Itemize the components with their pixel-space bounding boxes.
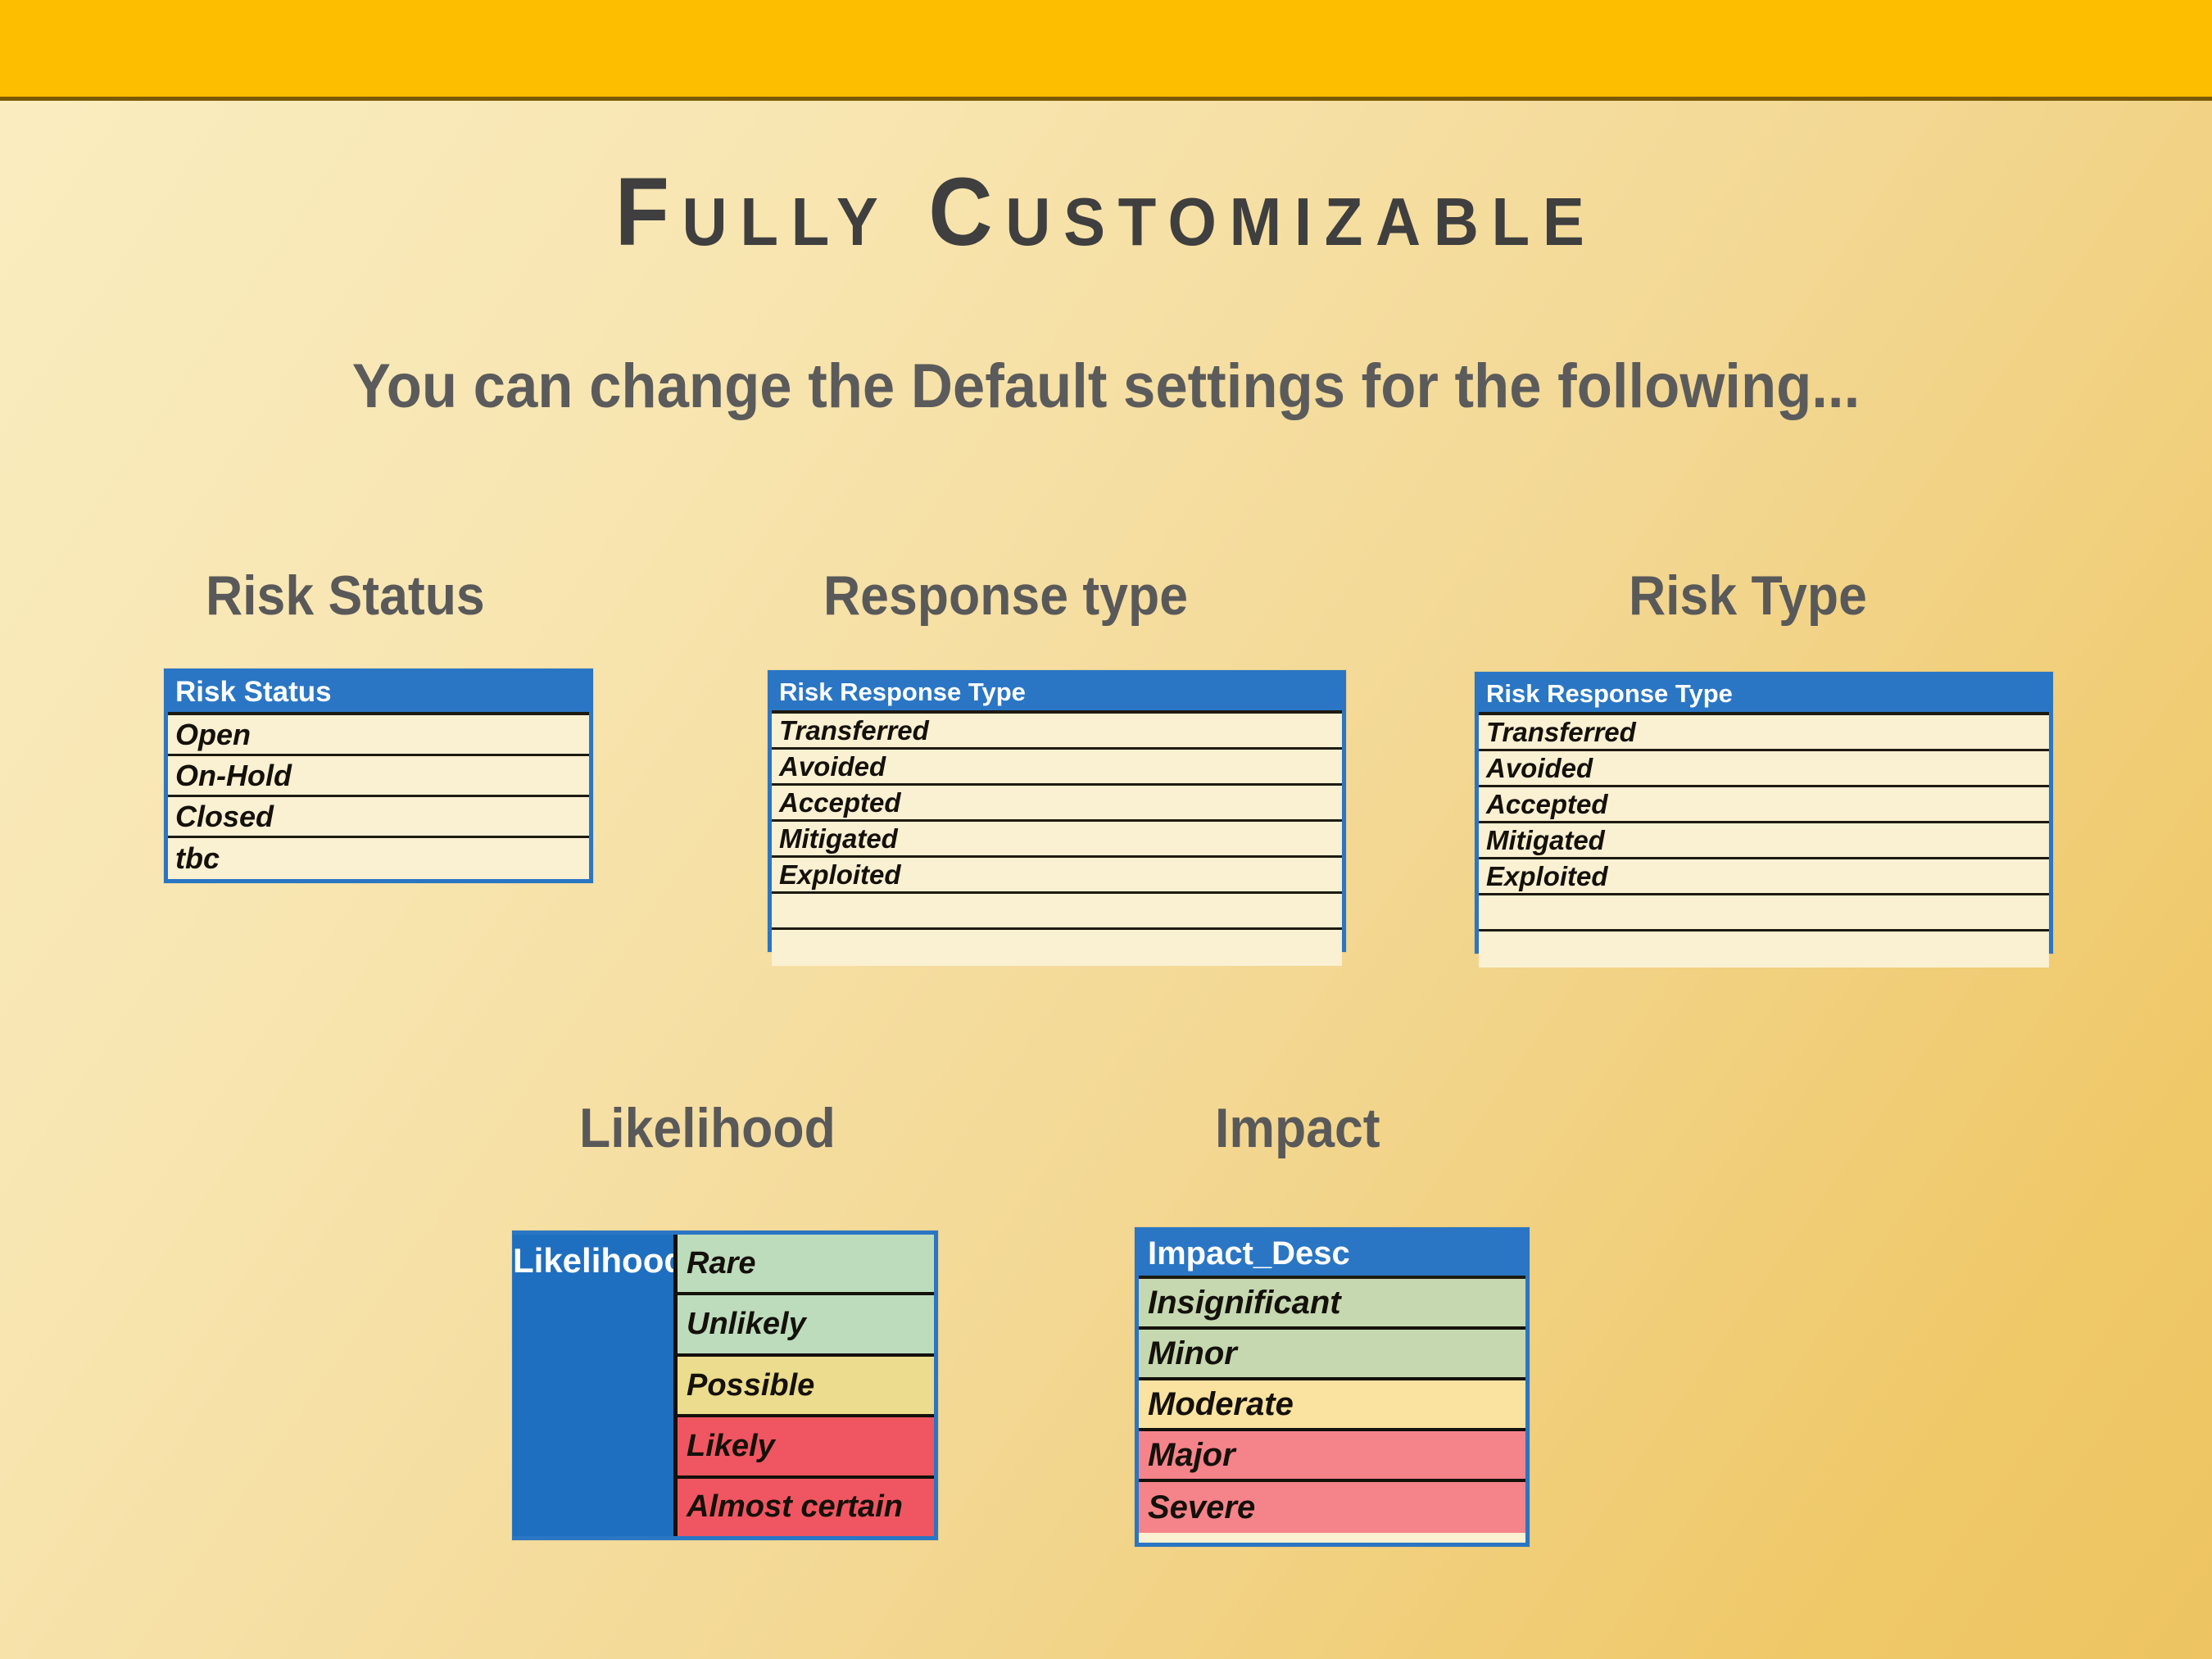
table-row: Closed xyxy=(168,797,589,838)
table-row: Possible xyxy=(678,1357,934,1417)
table-header-cell: Impact_Desc xyxy=(1139,1231,1525,1279)
table-row: Almost certain xyxy=(678,1479,934,1536)
table-header-cell: Risk Status xyxy=(168,673,589,715)
table-row: Mitigated xyxy=(1479,823,2049,859)
table-row: Avoided xyxy=(1479,751,2049,787)
table-risk-type: Risk Response Type TransferredAvoidedAcc… xyxy=(1475,672,2053,954)
table-row: Accepted xyxy=(1479,787,2049,823)
table-row xyxy=(1479,931,2049,968)
table-row: Minor xyxy=(1139,1330,1525,1380)
table-likelihood: Likelihood RareUnlikelyPossibleLikelyAlm… xyxy=(512,1231,938,1540)
table-body: OpenOn-HoldClosedtbc xyxy=(168,715,589,879)
table-header-cell: Likelihood xyxy=(513,1235,673,1536)
table-row: Accepted xyxy=(772,786,1342,822)
table-row: On-Hold xyxy=(168,756,589,797)
table-row: Unlikely xyxy=(678,1295,934,1356)
table-risk-status: Risk Status OpenOn-HoldClosedtbc xyxy=(164,669,593,883)
table-row: Severe xyxy=(1139,1482,1525,1533)
table-row: tbc xyxy=(168,838,589,879)
table-row xyxy=(772,930,1342,966)
table-response-type: Risk Response Type TransferredAvoidedAcc… xyxy=(768,670,1346,952)
table-header-cell: Risk Response Type xyxy=(1479,676,2049,715)
section-heading-impact: Impact xyxy=(1215,1096,1380,1160)
table-row xyxy=(1479,895,2049,931)
table-row: Insignificant xyxy=(1139,1279,1525,1330)
table-row: Transferred xyxy=(1479,715,2049,751)
table-row: Mitigated xyxy=(772,822,1342,858)
section-heading-likelihood: Likelihood xyxy=(579,1096,836,1160)
table-row xyxy=(772,894,1342,930)
top-accent-bar xyxy=(0,0,2212,101)
table-body: RareUnlikelyPossibleLikelyAlmost certain xyxy=(673,1235,934,1536)
table-header-cell: Risk Response Type xyxy=(772,674,1342,714)
page-subtitle: You can change the Default settings for … xyxy=(78,351,2135,422)
table-row: Major xyxy=(1139,1431,1525,1482)
section-heading-response-type: Response type xyxy=(823,564,1188,628)
table-impact: Impact_Desc InsignificantMinorModerateMa… xyxy=(1135,1227,1530,1547)
table-row: Rare xyxy=(678,1235,934,1295)
table-row: Likely xyxy=(678,1417,934,1478)
table-body: TransferredAvoidedAcceptedMitigatedExplo… xyxy=(1479,715,2049,968)
table-row: Open xyxy=(168,715,589,756)
table-body: InsignificantMinorModerateMajorSevere xyxy=(1139,1279,1525,1533)
table-row: Transferred xyxy=(772,714,1342,750)
table-row: Avoided xyxy=(772,750,1342,786)
table-body: TransferredAvoidedAcceptedMitigatedExplo… xyxy=(772,714,1342,966)
slide-canvas: Fully Customizable You can change the De… xyxy=(0,0,2212,1659)
page-title: Fully Customizable xyxy=(88,162,2124,264)
table-row: Exploited xyxy=(1479,859,2049,895)
table-row: Moderate xyxy=(1139,1380,1525,1431)
table-row: Exploited xyxy=(772,858,1342,894)
section-heading-risk-type: Risk Type xyxy=(1629,564,1867,628)
section-heading-risk-status: Risk Status xyxy=(206,564,485,628)
